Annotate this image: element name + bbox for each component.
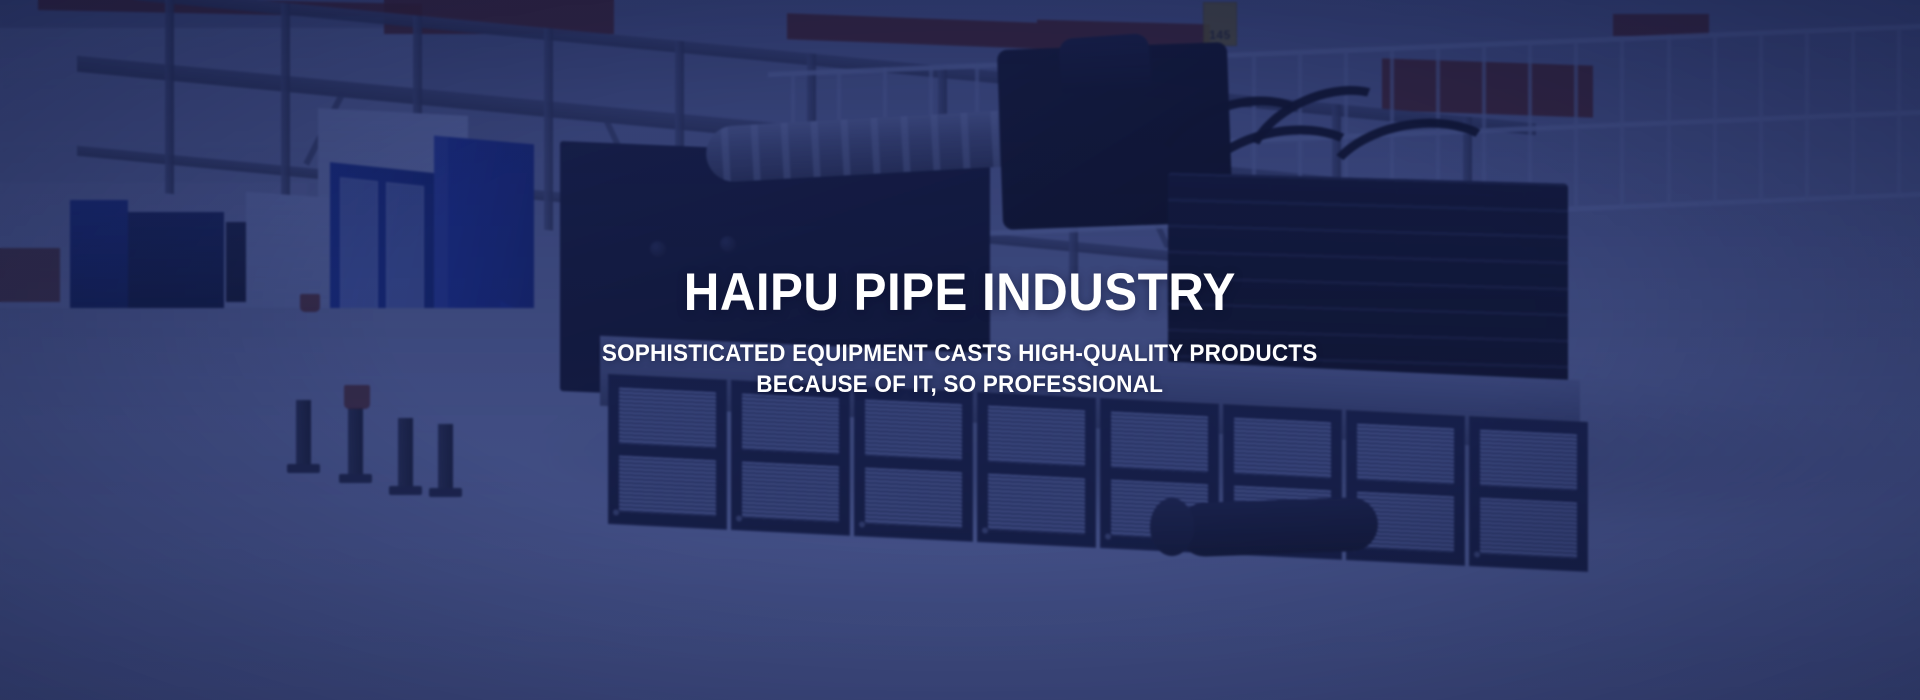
hero-subtitle-line-2: BECAUSE OF IT, SO PROFESSIONAL [602, 369, 1318, 400]
hero-banner: 145 [0, 0, 1920, 700]
hero-title: HAIPU PIPE INDUSTRY [684, 264, 1236, 321]
hero-subtitle: SOPHISTICATED EQUIPMENT CASTS HIGH-QUALI… [602, 338, 1318, 400]
hero-caption: HAIPU PIPE INDUSTRY SOPHISTICATED EQUIPM… [0, 0, 1920, 700]
hero-subtitle-line-1: SOPHISTICATED EQUIPMENT CASTS HIGH-QUALI… [602, 338, 1318, 369]
